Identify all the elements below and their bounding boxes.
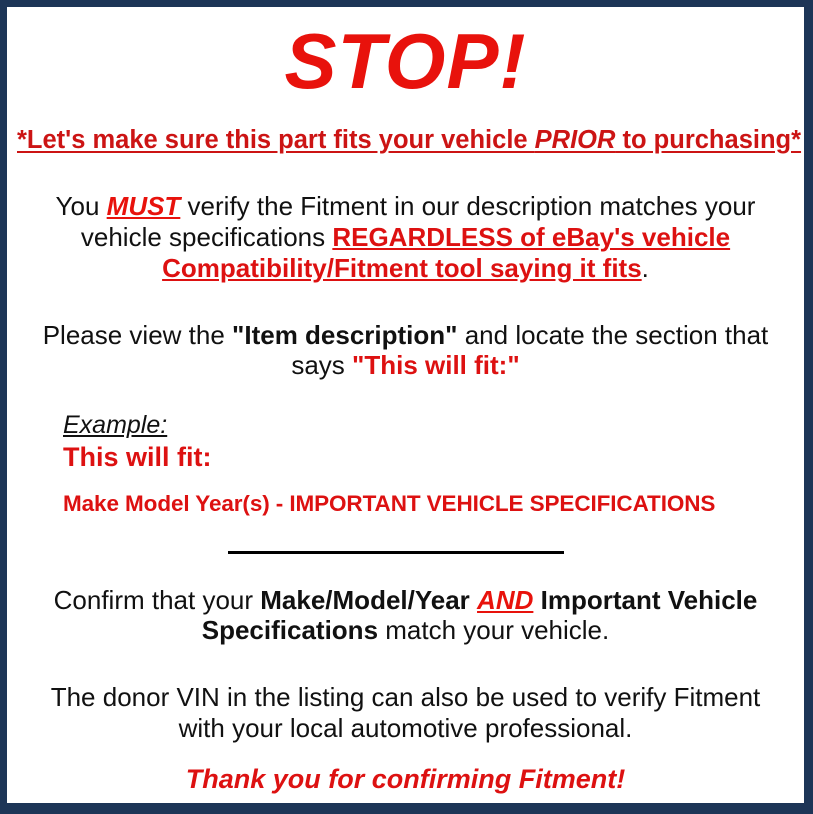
section-divider [228,551,564,554]
donor-vin-paragraph: The donor VIN in the listing can also be… [17,646,794,743]
confirm-space-2 [533,585,540,615]
subtitle-lead: *Let's make sure this part fits your veh… [17,126,535,154]
subtitle-line: *Let's make sure this part fits your veh… [17,103,794,156]
subtitle-tail: to purchasing* [615,126,801,154]
example-fit-heading: This will fit: [63,440,794,473]
divider-wrapper [17,517,794,559]
confirm-space-1 [470,585,477,615]
this-will-fit-label: "This will fit:" [352,350,520,380]
fitment-notice-frame: STOP! *Let's make sure this part fits yo… [0,0,813,814]
view-part1: Please view the [43,320,232,350]
confirm-paragraph: Confirm that your Make/Model/Year AND Im… [17,559,794,646]
thank-you-message: Thank you for confirming Fitment! [17,743,794,795]
must-verify-paragraph: You MUST verify the Fitment in our descr… [17,155,794,283]
example-label: Example: [63,411,167,440]
page-title: STOP! [17,7,794,103]
and-emphasis: AND [477,585,533,615]
example-block: Example: This will fit: Make Model Year(… [17,381,794,517]
subtitle-emphasis-prior: PRIOR [535,126,616,154]
must-part3: . [642,253,649,283]
must-part1: You [56,191,107,221]
example-label-row: Example: [63,411,794,440]
example-spec-line: Make Model Year(s) - IMPORTANT VEHICLE S… [63,473,794,517]
notice-content: STOP! *Let's make sure this part fits yo… [17,7,794,796]
confirm-part2: match your vehicle. [378,615,609,645]
make-model-year-label: Make/Model/Year [260,585,470,615]
confirm-part1: Confirm that your [54,585,261,615]
must-emphasis: MUST [107,191,181,221]
view-description-paragraph: Please view the "Item description" and l… [17,284,794,381]
item-description-label: "Item description" [232,320,457,350]
